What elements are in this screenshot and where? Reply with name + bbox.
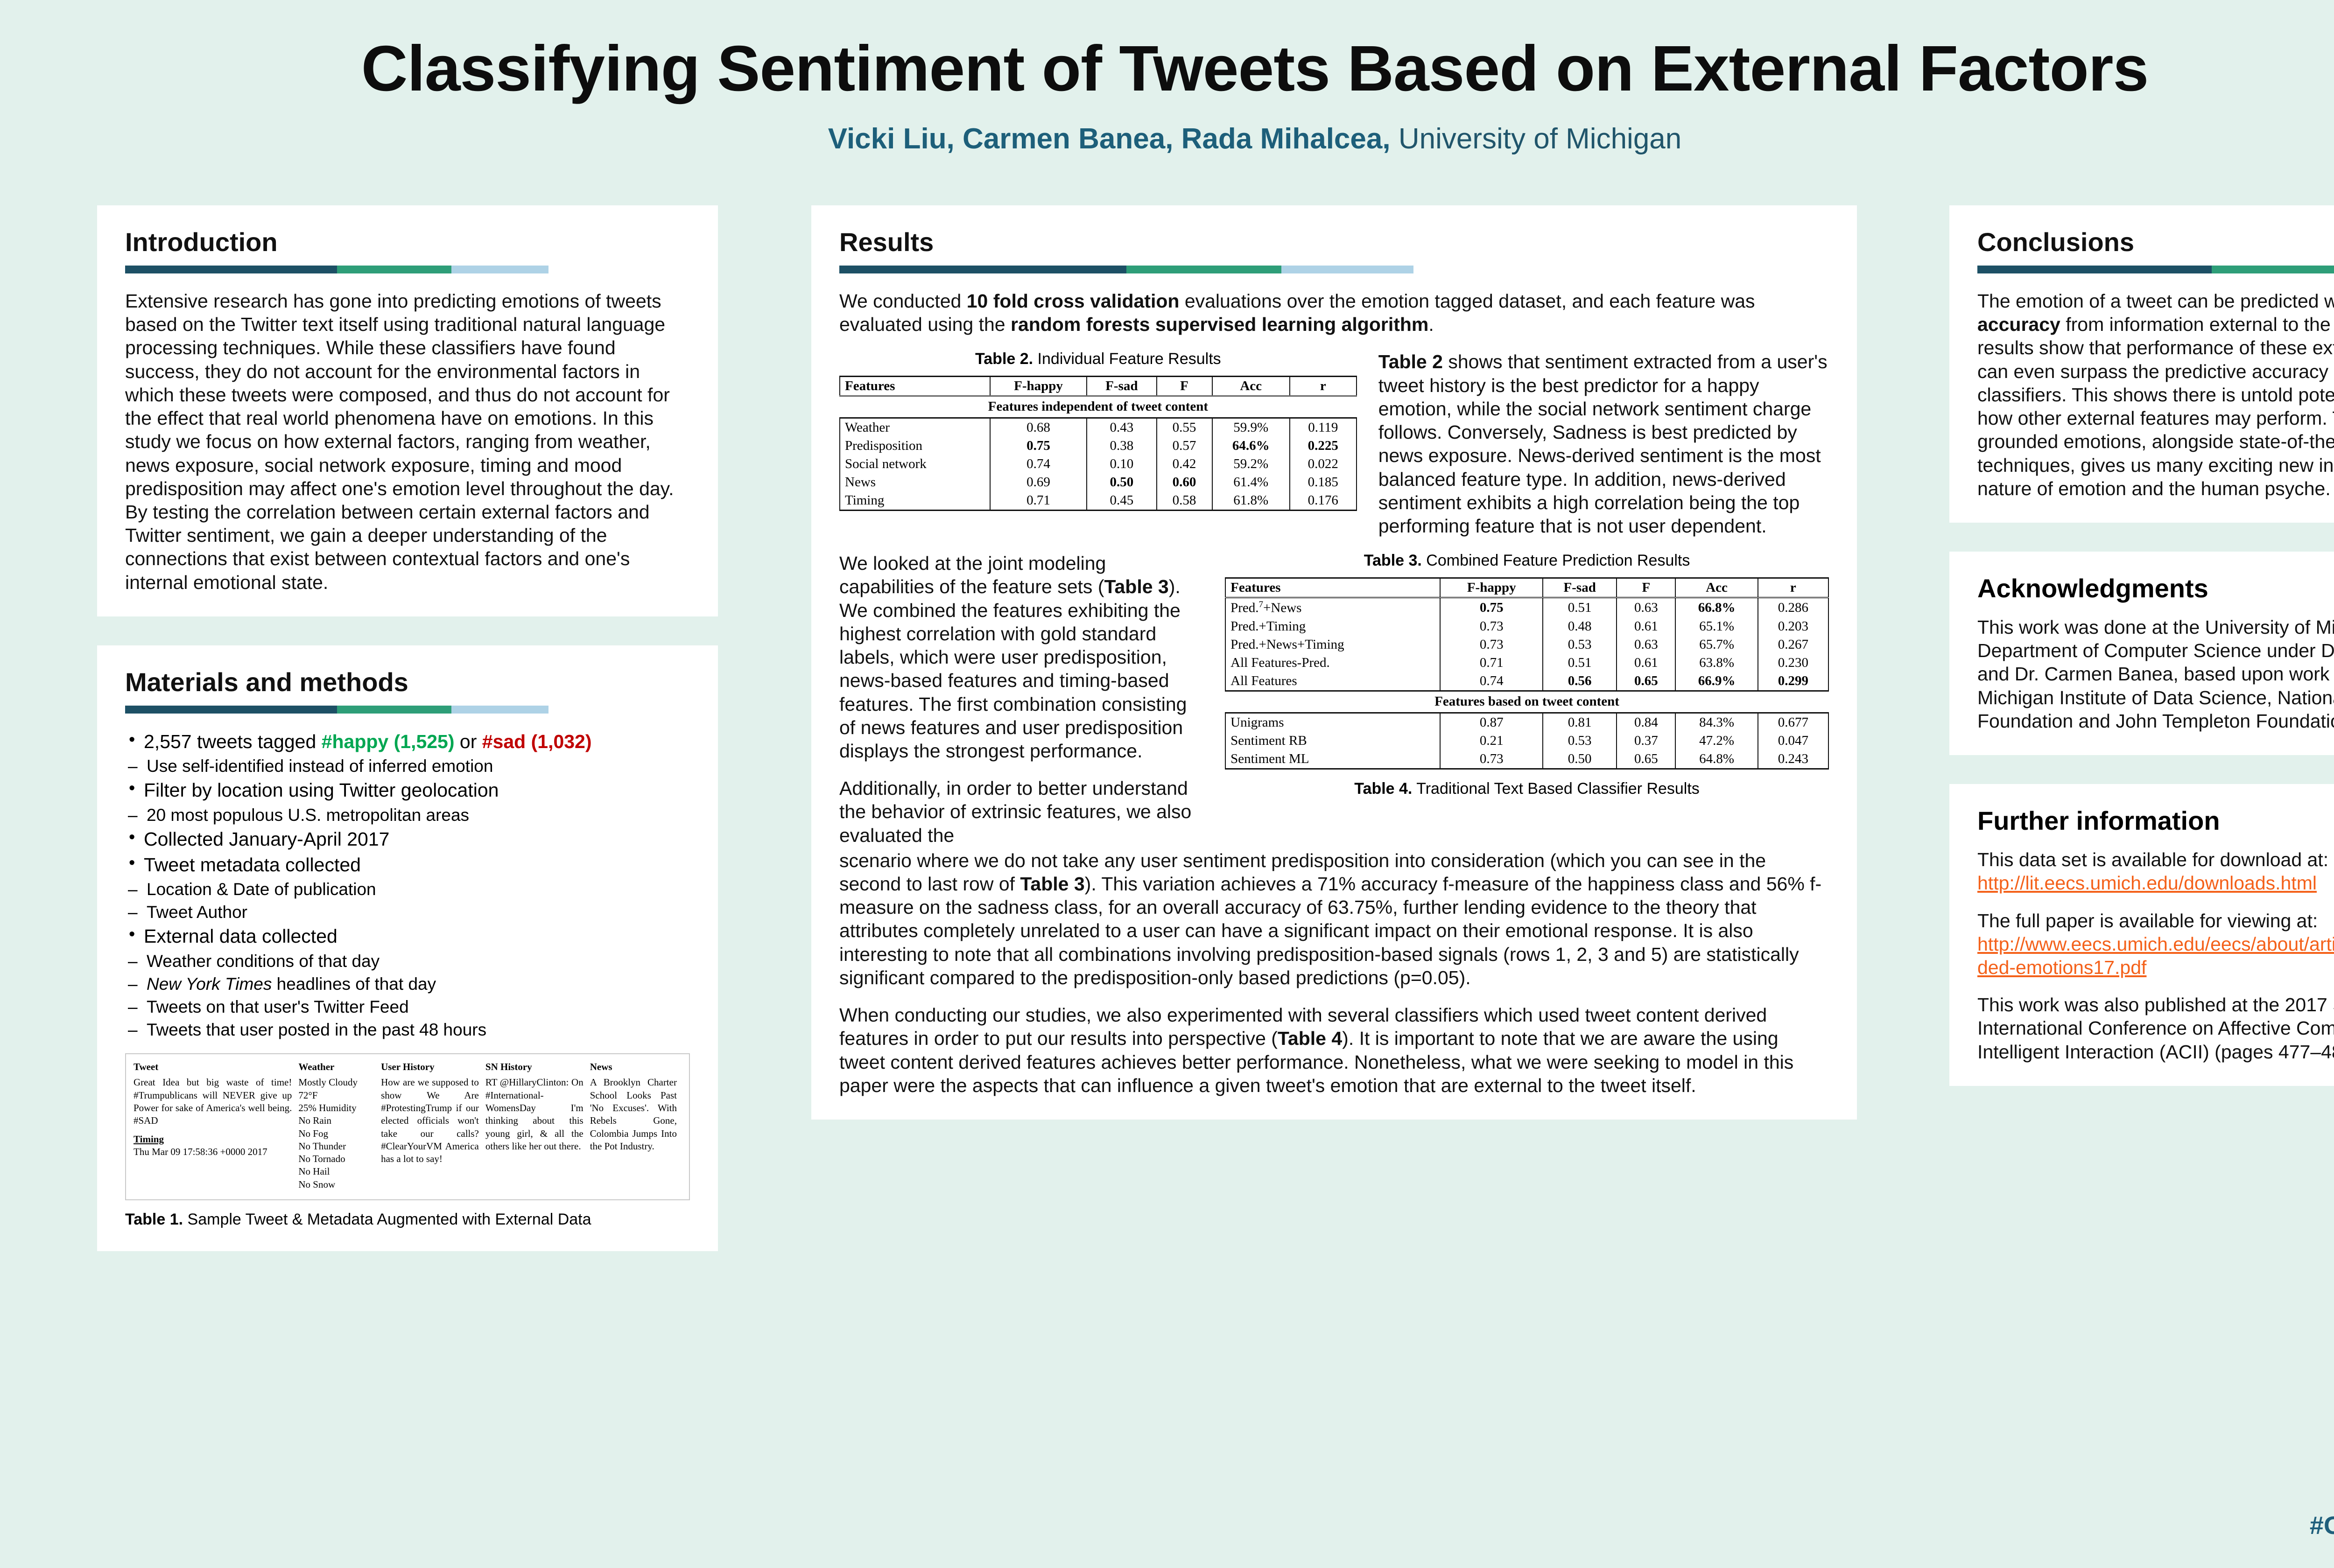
sub-text: headlines of that day: [272, 974, 436, 994]
section-label-independent: Features independent of tweet content: [840, 396, 1357, 418]
table1-caption-label: Table 1.: [125, 1211, 183, 1228]
sad-tag: #sad (1,032): [482, 731, 592, 752]
list-item: External data collected: [125, 924, 690, 949]
cell-acc: 64.8%: [1675, 750, 1758, 769]
cell-r: 0.286: [1758, 598, 1828, 617]
paper-line: The full paper is available for viewing …: [1977, 909, 2334, 932]
table-header-row: Features F-happy F-sad F Acc r: [840, 377, 1357, 396]
cell-f-sad: 0.48: [1543, 617, 1617, 636]
cell-feature: Predisposition: [840, 437, 990, 455]
sample-tweet-table: Tweet Weather User History SN History Ne…: [133, 1059, 682, 1191]
list-item: 20 most populous U.S. metropolitan areas: [125, 804, 690, 826]
materials-heading: Materials and methods: [125, 667, 690, 697]
table3-block: Table 3. Combined Feature Prediction Res…: [1225, 552, 1829, 805]
acknowledgments-card: Acknowledgments This work was done at th…: [1949, 552, 2334, 755]
col-header-r: r: [1758, 578, 1828, 598]
section-label-content: Features based on tweet content: [1225, 691, 1828, 713]
table1-wrapper: Tweet Weather User History SN History Ne…: [125, 1053, 690, 1200]
cell-f-sad: 0.50: [1087, 473, 1156, 491]
table1-caption: Table 1. Sample Tweet & Metadata Augment…: [125, 1211, 690, 1229]
right-column: Conclusions The emotion of a tweet can b…: [1949, 205, 2334, 1115]
cell-feature: All Features-Pred.: [1225, 654, 1440, 672]
cell-acc: 65.7%: [1675, 636, 1758, 654]
joint-text: We looked at the joint modeling capabili…: [839, 553, 1106, 597]
cell-f-happy: 0.69: [990, 473, 1087, 491]
cell-acc: 59.9%: [1212, 418, 1290, 437]
cell-f-happy: 0.21: [1440, 732, 1543, 750]
table-row: Timing 0.71 0.45 0.58 61.8% 0.176: [840, 491, 1357, 511]
list-item: Tweet Author: [125, 901, 690, 924]
list-item: Tweets on that user's Twitter Feed: [125, 996, 690, 1018]
weather-line: No Thunder: [298, 1140, 374, 1153]
weather-line: 25% Humidity: [298, 1102, 374, 1114]
weather-line: 72°F: [298, 1089, 374, 1102]
cell-r: 0.299: [1758, 672, 1828, 691]
table-row: Predisposition 0.75 0.38 0.57 64.6% 0.22…: [840, 437, 1357, 455]
sub-list: Use self-identified instead of inferred …: [125, 755, 690, 777]
cell-acc: 84.3%: [1675, 713, 1758, 732]
acknowledgments-heading: Acknowledgments: [1977, 573, 2334, 603]
cell-f-sad: 0.43: [1087, 418, 1156, 437]
table-section-row: Features independent of tweet content: [840, 396, 1357, 418]
table2-narrative: Table 2 shows that sentiment extracted f…: [1378, 350, 1829, 538]
nyt-italic: New York Times: [147, 974, 272, 994]
list-item: Weather conditions of that day: [125, 950, 690, 973]
cell-acc: 47.2%: [1675, 732, 1758, 750]
col-header-f: F: [1617, 578, 1675, 598]
timing-value: Thu Mar 09 17:58:36 +0000 2017: [134, 1146, 267, 1157]
cell-r: 0.225: [1290, 437, 1357, 455]
cell-f: 0.61: [1617, 654, 1675, 672]
cell-f-sad: 0.50: [1543, 750, 1617, 769]
table3-reference: Table 3: [1020, 873, 1084, 895]
materials-card: Materials and methods 2,557 tweets tagge…: [97, 645, 718, 1251]
accent-bar: [125, 706, 549, 714]
cell-f: 0.63: [1617, 598, 1675, 617]
cell-acc: 59.2%: [1212, 455, 1290, 473]
table2-paragraph-text: shows that sentiment extracted from a us…: [1378, 351, 1828, 537]
table-row: News 0.69 0.50 0.60 61.4% 0.185: [840, 473, 1357, 491]
acknowledgments-body: This work was done at the University of …: [1977, 616, 2334, 733]
accent-bar: [839, 266, 1413, 273]
cell-feature: All Features: [1225, 672, 1440, 691]
full-paper-link[interactable]: http://www.eecs.umich.edu/eecs/about/art…: [1977, 933, 2334, 978]
table-row: Unigrams 0.87 0.81 0.84 84.3% 0.677: [1225, 713, 1828, 732]
cell-r: 0.176: [1290, 491, 1357, 511]
conclusions-body: The emotion of a tweet can be predicted …: [1977, 289, 2334, 500]
table-row: Sentiment ML 0.73 0.50 0.65 64.8% 0.243: [1225, 750, 1828, 769]
table4-reference: Table 4: [1278, 1028, 1342, 1049]
cell-f-happy: 0.73: [1440, 636, 1543, 654]
cell-f-sad: 0.10: [1087, 455, 1156, 473]
dataset-download-link[interactable]: http://lit.eecs.umich.edu/downloads.html: [1977, 872, 2317, 894]
list-item: Tweet metadata collected: [125, 853, 690, 877]
list-item: 2,557 tweets tagged #happy (1,525) or #s…: [125, 729, 690, 754]
cell-feature: Pred.+Timing: [1225, 617, 1440, 636]
poster-columns: Introduction Extensive research has gone…: [0, 205, 2334, 1568]
cell-f-sad: 0.45: [1087, 491, 1156, 511]
results-card: Results We conducted 10 fold cross valid…: [811, 205, 1857, 1120]
final-paragraph: When conducting our studies, we also exp…: [839, 1003, 1829, 1097]
combined-feature-prediction-table: Features F-happy F-sad F Acc r Pred.7+Ne…: [1225, 577, 1829, 770]
cell-feature: Social network: [840, 455, 990, 473]
cell-r: 0.185: [1290, 473, 1357, 491]
table-row: All Features-Pred. 0.71 0.51 0.61 63.8% …: [1225, 654, 1828, 672]
rf-emphasis: random forests supervised learning algor…: [1011, 314, 1428, 335]
author-names: Vicki Liu, Carmen Banea, Rada Mihalcea,: [828, 123, 1391, 155]
table-section-row: Features based on tweet content: [1225, 691, 1828, 713]
table-row: Great Idea but big waste of time! #Trump…: [133, 1076, 682, 1191]
col-header-features: Features: [1225, 578, 1440, 598]
cell-acc: 61.8%: [1212, 491, 1290, 511]
cell-r: 0.230: [1758, 654, 1828, 672]
col-header-news: News: [589, 1059, 682, 1076]
table1-caption-text: Sample Tweet & Metadata Augmented with E…: [183, 1211, 591, 1228]
cell-acc: 65.1%: [1675, 617, 1758, 636]
table2-row: Table 2. Individual Feature Results Feat…: [839, 350, 1829, 538]
table-row: Pred.7+News 0.75 0.51 0.63 66.8% 0.286: [1225, 598, 1828, 617]
cell-user-history: How are we supposed to show We Are #Prot…: [380, 1076, 485, 1191]
cell-acc: 66.9%: [1675, 672, 1758, 691]
introduction-card: Introduction Extensive research has gone…: [97, 205, 718, 616]
weather-line: No Hail: [298, 1165, 374, 1178]
individual-feature-results-table: Features F-happy F-sad F Acc r Features …: [839, 376, 1357, 511]
cell-f-sad: 0.56: [1543, 672, 1617, 691]
table-row: Social network 0.74 0.10 0.42 59.2% 0.02…: [840, 455, 1357, 473]
further-information-card: Further information This data set is ava…: [1949, 784, 2334, 1086]
table2-reference: Table 2: [1378, 351, 1443, 372]
col-header-r: r: [1290, 377, 1357, 396]
col-header-f-happy: F-happy: [990, 377, 1087, 396]
col-header-tweet: Tweet: [133, 1059, 297, 1076]
cell-acc: 61.4%: [1212, 473, 1290, 491]
cell-r: 0.047: [1758, 732, 1828, 750]
cell-acc: 66.8%: [1675, 598, 1758, 617]
table4-caption-text: Traditional Text Based Classifier Result…: [1412, 780, 1699, 798]
happy-tag: #happy (1,525): [322, 731, 455, 752]
cell-f-sad: 0.53: [1543, 732, 1617, 750]
tweet-text: Great Idea but big waste of time! #Trump…: [134, 1077, 292, 1126]
weather-line: No Snow: [298, 1178, 374, 1191]
cv-emphasis: 10 fold cross validation: [967, 290, 1180, 312]
col-header-sn-history: SN History: [485, 1059, 589, 1076]
table2-block: Table 2. Individual Feature Results Feat…: [839, 350, 1357, 511]
cell-f-happy: 0.68: [990, 418, 1087, 437]
cell-f-sad: 0.51: [1543, 654, 1617, 672]
results-heading: Results: [839, 227, 1829, 257]
intro-text: We conducted: [839, 290, 967, 312]
list-item: Collected January-April 2017: [125, 827, 690, 852]
table4-caption-label: Table 4.: [1354, 780, 1412, 798]
cell-tweet: Great Idea but big waste of time! #Trump…: [133, 1076, 297, 1191]
list-item: Use self-identified instead of inferred …: [125, 755, 690, 777]
table-header-row: Features F-happy F-sad F Acc r: [1225, 578, 1828, 598]
cell-f: 0.42: [1157, 455, 1212, 473]
author-line: Vicki Liu, Carmen Banea, Rada Mihalcea, …: [0, 122, 2334, 155]
cell-feature: Unigrams: [1225, 713, 1440, 732]
table-row: Sentiment RB 0.21 0.53 0.37 47.2% 0.047: [1225, 732, 1828, 750]
list-item: Filter by location using Twitter geoloca…: [125, 778, 690, 803]
materials-bullet-list: 2,557 tweets tagged #happy (1,525) or #s…: [125, 729, 690, 1041]
weather-line: No Rain: [298, 1114, 374, 1127]
list-item: New York Times headlines of that day: [125, 973, 690, 995]
table3-reference: Table 3: [1104, 576, 1168, 597]
table2-paragraph: Table 2 shows that sentiment extracted f…: [1378, 350, 1829, 538]
cell-feature: News: [840, 473, 990, 491]
col-header-acc: Acc: [1675, 578, 1758, 598]
weather-line: Mostly Cloudy: [298, 1076, 374, 1089]
intro-text: .: [1428, 314, 1434, 335]
cell-f: 0.55: [1157, 418, 1212, 437]
cell-news: A Brooklyn Charter School Looks Past 'No…: [589, 1076, 682, 1191]
cell-f: 0.37: [1617, 732, 1675, 750]
feature-name-tail: +News: [1263, 601, 1301, 616]
cell-f-happy: 0.74: [1440, 672, 1543, 691]
cell-feature: Sentiment RB: [1225, 732, 1440, 750]
cell-r: 0.119: [1290, 418, 1357, 437]
cell-feature: Weather: [840, 418, 990, 437]
author-affiliation: University of Michigan: [1391, 123, 1682, 155]
cell-f-sad: 0.53: [1543, 636, 1617, 654]
col-header-f-sad: F-sad: [1087, 377, 1156, 396]
introduction-body: Extensive research has gone into predict…: [125, 289, 690, 594]
publication-note: This work was also published at the 2017…: [1977, 993, 2334, 1064]
cell-acc: 64.6%: [1212, 437, 1290, 455]
table3-row: We looked at the joint modeling capabili…: [839, 552, 1829, 847]
table3-caption-label: Table 3.: [1364, 552, 1422, 569]
cell-weather: Mostly Cloudy 72°F 25% Humidity No Rain …: [297, 1076, 380, 1191]
table3-caption-text: Combined Feature Prediction Results: [1422, 552, 1690, 569]
cell-feature: Sentiment ML: [1225, 750, 1440, 769]
cell-feature: Pred.+News+Timing: [1225, 636, 1440, 654]
joint-modeling-narrative: We looked at the joint modeling capabili…: [839, 552, 1203, 847]
dataset-line: This data set is available for download …: [1977, 848, 2334, 871]
table4-caption: Table 4. Traditional Text Based Classifi…: [1225, 780, 1829, 798]
table-row: Pred.+Timing 0.73 0.48 0.61 65.1% 0.203: [1225, 617, 1828, 636]
sub-list: 20 most populous U.S. metropolitan areas: [125, 804, 690, 826]
conclusions-text: from information external to the tweet i…: [1977, 314, 2334, 499]
footnote-marker: 7: [1259, 600, 1264, 609]
cell-f-happy: 0.74: [990, 455, 1087, 473]
cell-f: 0.60: [1157, 473, 1212, 491]
bullet-text: 2,557 tweets tagged: [144, 731, 322, 752]
feature-name: Pred.: [1230, 601, 1258, 616]
col-header-f-sad: F-sad: [1543, 578, 1617, 598]
list-item: Location & Date of publication: [125, 878, 690, 901]
cell-f-happy: 0.71: [1440, 654, 1543, 672]
cell-f: 0.65: [1617, 672, 1675, 691]
conclusions-heading: Conclusions: [1977, 227, 2334, 257]
left-column: Introduction Extensive research has gone…: [97, 205, 718, 1280]
cell-r: 0.243: [1758, 750, 1828, 769]
cell-acc: 63.8%: [1675, 654, 1758, 672]
cell-f: 0.65: [1617, 750, 1675, 769]
cell-f-happy: 0.71: [990, 491, 1087, 511]
cell-f: 0.63: [1617, 636, 1675, 654]
table3-caption: Table 3. Combined Feature Prediction Res…: [1225, 552, 1829, 570]
cell-r: 0.022: [1290, 455, 1357, 473]
cell-f: 0.61: [1617, 617, 1675, 636]
table-row: Weather 0.68 0.43 0.55 59.9% 0.119: [840, 418, 1357, 437]
cell-f-happy: 0.75: [990, 437, 1087, 455]
results-intro: We conducted 10 fold cross validation ev…: [839, 289, 1829, 336]
further-information-heading: Further information: [1977, 805, 2334, 836]
ghc-hashtag: #GHC19: [2310, 1511, 2334, 1540]
cell-f: 0.57: [1157, 437, 1212, 455]
cell-feature: Timing: [840, 491, 990, 511]
col-header-f: F: [1157, 377, 1212, 396]
table-header-row: Tweet Weather User History SN History Ne…: [133, 1059, 682, 1076]
cell-r: 0.267: [1758, 636, 1828, 654]
table2-caption-label: Table 2.: [975, 350, 1033, 368]
accent-bar: [1977, 266, 2334, 273]
cell-r: 0.203: [1758, 617, 1828, 636]
sub-list: Weather conditions of that day New York …: [125, 950, 690, 1041]
introduction-heading: Introduction: [125, 227, 690, 257]
weather-line: No Fog: [298, 1127, 374, 1140]
poster-header: Classifying Sentiment of Tweets Based on…: [0, 0, 2334, 155]
accent-bar: [125, 266, 549, 273]
col-header-weather: Weather: [297, 1059, 380, 1076]
additionally-paragraph-head: Additionally, in order to better underst…: [839, 777, 1203, 847]
cell-f: 0.58: [1157, 491, 1212, 511]
col-header-f-happy: F-happy: [1440, 578, 1543, 598]
col-header-user-history: User History: [380, 1059, 485, 1076]
col-header-features: Features: [840, 377, 990, 396]
sub-list: Location & Date of publication Tweet Aut…: [125, 878, 690, 924]
middle-column: Results We conducted 10 fold cross valid…: [811, 205, 1857, 1148]
table2-caption-text: Individual Feature Results: [1033, 350, 1221, 368]
bullet-text: or: [455, 731, 482, 752]
cell-f: 0.84: [1617, 713, 1675, 732]
cell-f-happy: 0.73: [1440, 617, 1543, 636]
weather-line: No Tornado: [298, 1153, 374, 1165]
table2-caption: Table 2. Individual Feature Results: [839, 350, 1357, 368]
timing-label: Timing: [134, 1127, 292, 1146]
list-item: Tweets that user posted in the past 48 h…: [125, 1019, 690, 1041]
cell-f-happy: 0.75: [1440, 598, 1543, 617]
cell-sn-history: RT @HillaryClinton: On #International-Wo…: [485, 1076, 589, 1191]
cell-f-sad: 0.81: [1543, 713, 1617, 732]
dataset-link-wrapper: http://lit.eecs.umich.edu/downloads.html: [1977, 871, 2334, 895]
col-header-acc: Acc: [1212, 377, 1290, 396]
additionally-paragraph-body: scenario where we do not take any user s…: [839, 849, 1829, 989]
table-row: All Features 0.74 0.56 0.65 66.9% 0.299: [1225, 672, 1828, 691]
cell-f-sad: 0.38: [1087, 437, 1156, 455]
table-row: Pred.+News+Timing 0.73 0.53 0.63 65.7% 0…: [1225, 636, 1828, 654]
joint-modeling-paragraph: We looked at the joint modeling capabili…: [839, 552, 1203, 763]
conclusions-card: Conclusions The emotion of a tweet can b…: [1949, 205, 2334, 523]
paper-link-wrapper: http://www.eecs.umich.edu/eecs/about/art…: [1977, 932, 2334, 979]
joint-text: ). We combined the features exhibiting t…: [839, 576, 1187, 762]
cell-f-happy: 0.73: [1440, 750, 1543, 769]
cell-feature: Pred.7+News: [1225, 598, 1440, 617]
cell-f-sad: 0.51: [1543, 598, 1617, 617]
cell-f-happy: 0.87: [1440, 713, 1543, 732]
conclusions-text: The emotion of a tweet can be predicted …: [1977, 290, 2334, 312]
cell-r: 0.677: [1758, 713, 1828, 732]
page-title: Classifying Sentiment of Tweets Based on…: [0, 36, 2334, 101]
